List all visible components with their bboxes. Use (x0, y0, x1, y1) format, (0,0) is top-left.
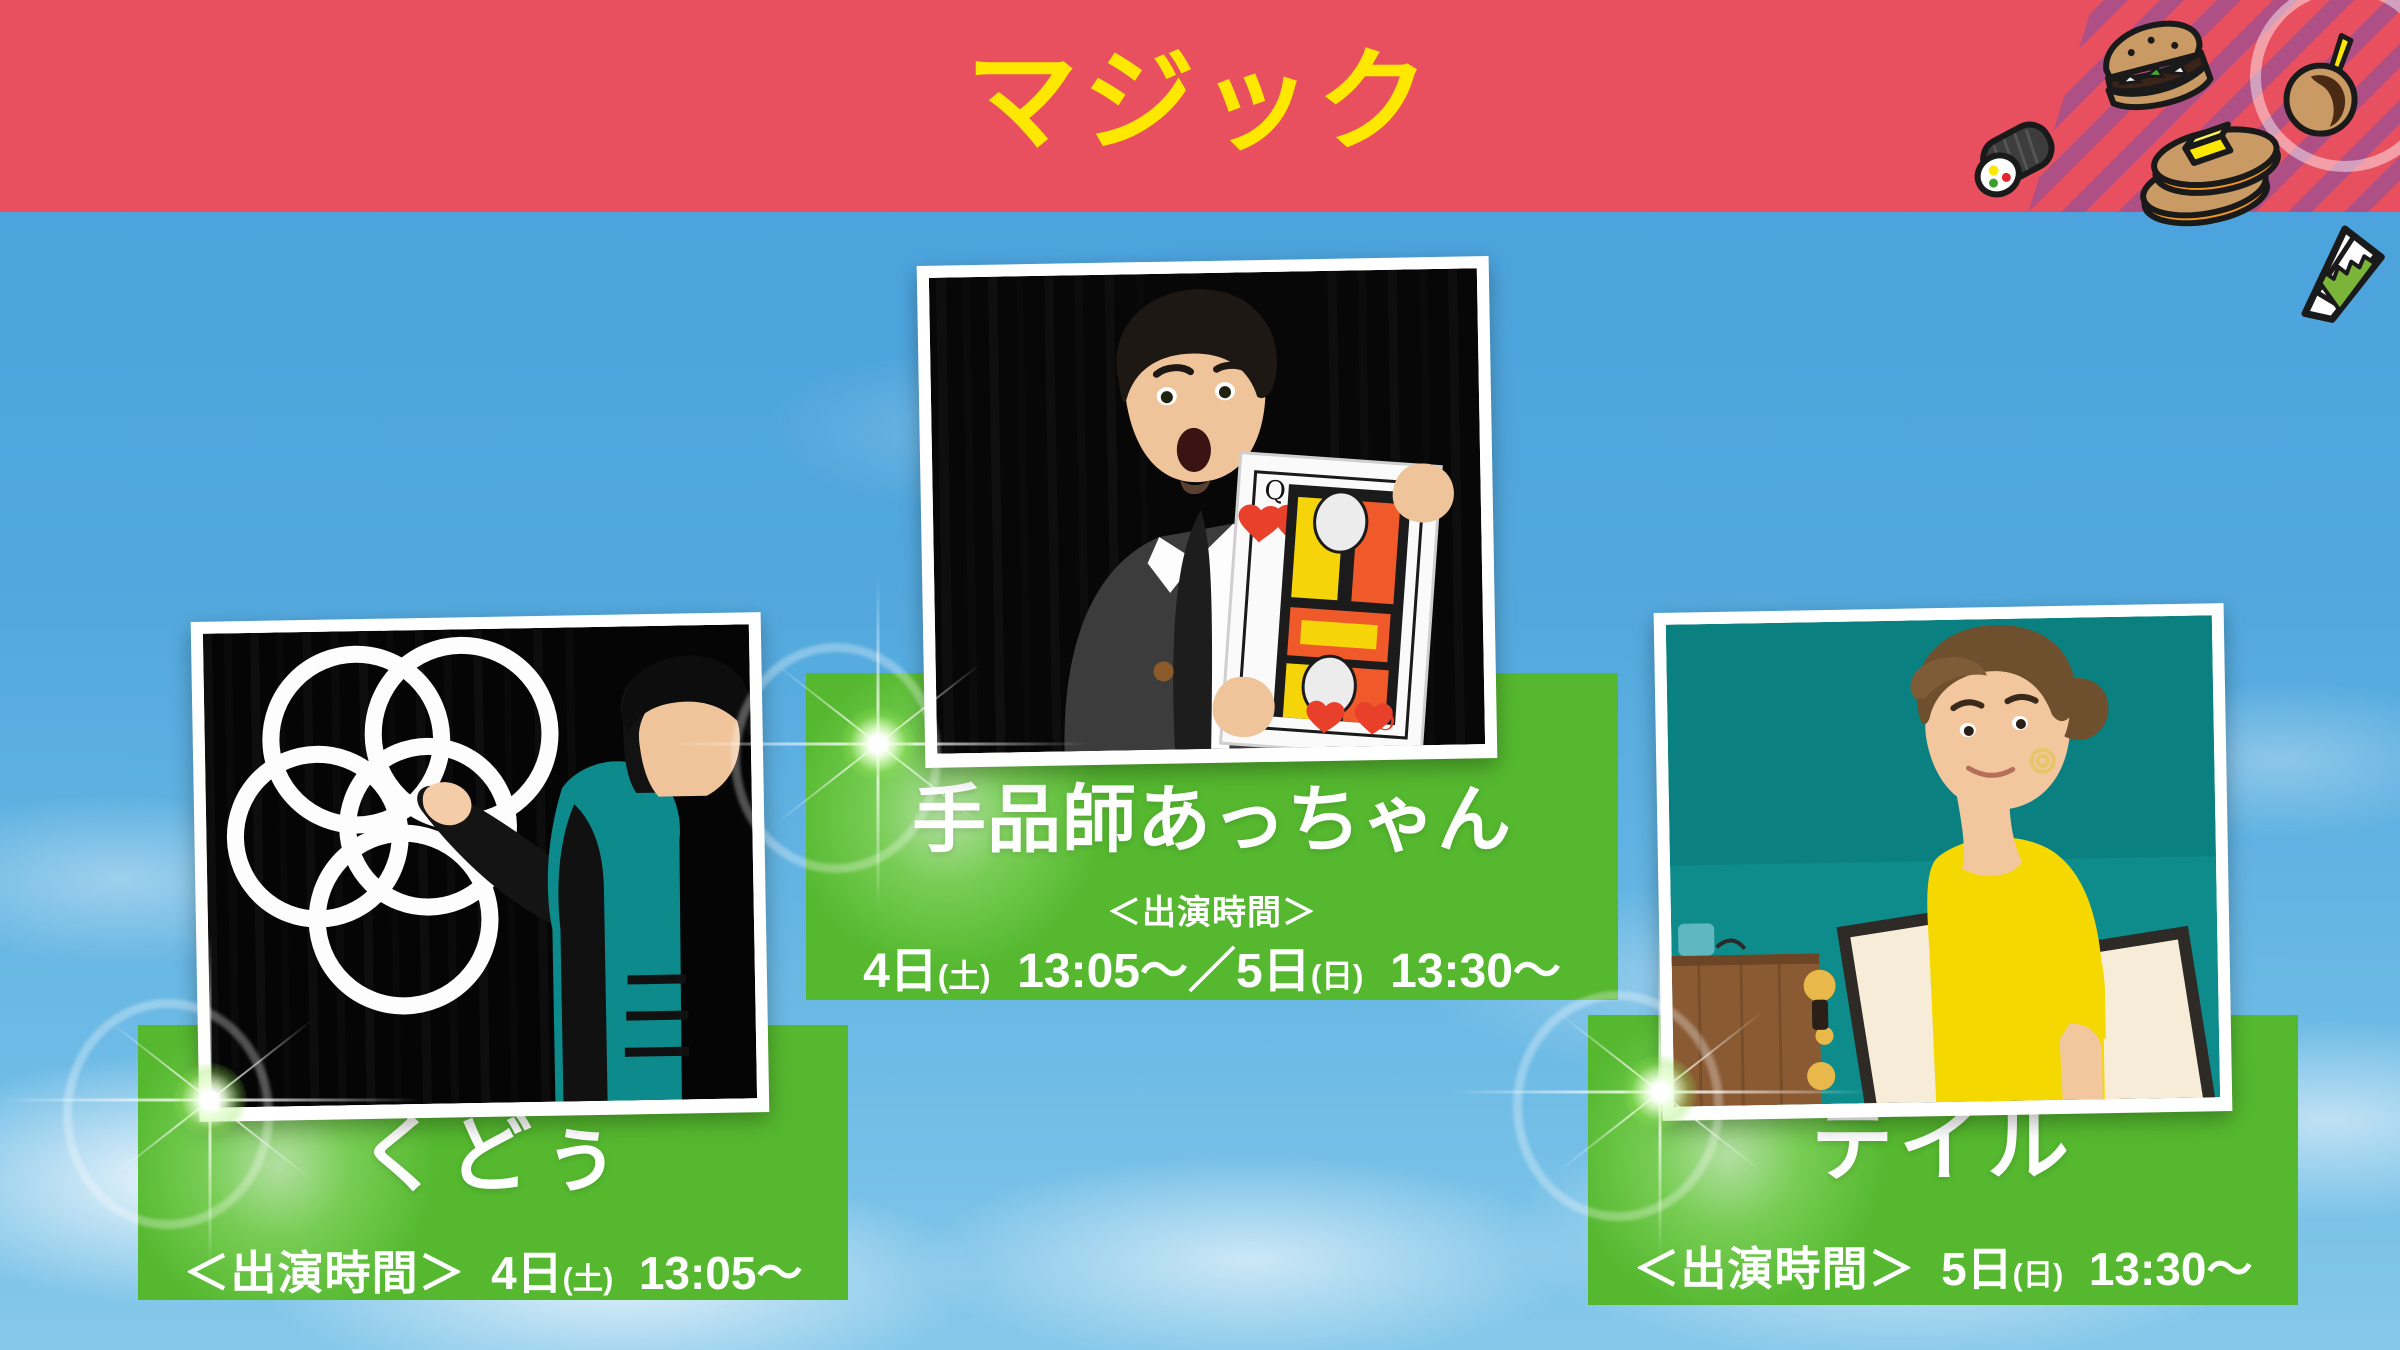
performer-photo-image: Q Q (929, 268, 1485, 753)
performer-time-value: 4日(土) 13:05〜 (478, 1247, 802, 1299)
performer-time: ＜出演時間＞ 4日(土) 13:05〜 (138, 1237, 848, 1300)
svg-text:Q: Q (1375, 706, 1397, 735)
poster-stage: マジック (0, 0, 2400, 1350)
takoyaki-icon (2270, 25, 2379, 147)
performer-time: 4日(土) 13:05〜／5日(日) 13:30〜 (806, 931, 1618, 1000)
performer-photo[interactable]: Q Q (917, 256, 1498, 768)
performer-time-label: ＜出演時間＞ (806, 885, 1618, 934)
performer-time: ＜出演時間＞ 5日(日) 13:30〜 (1588, 1233, 2298, 1299)
performer-name: 手品師あっちゃん (806, 783, 1618, 857)
performer-photo-image (1666, 615, 2220, 1106)
performer-time-label: ＜出演時間＞ (184, 1247, 466, 1299)
performer-photo[interactable] (191, 612, 770, 1122)
svg-text:Q: Q (1263, 476, 1286, 507)
performer-time-value: 4日(土) 13:05〜／5日(日) 13:30〜 (863, 945, 1561, 998)
performer-photo-image (203, 624, 757, 1107)
performer-name: くどぅ (138, 1113, 848, 1197)
performer-time-value: 5日(日) 13:30〜 (1928, 1243, 2252, 1295)
performer-photo[interactable] (1654, 603, 2233, 1121)
performer-time-label: ＜出演時間＞ (1634, 1243, 1916, 1295)
